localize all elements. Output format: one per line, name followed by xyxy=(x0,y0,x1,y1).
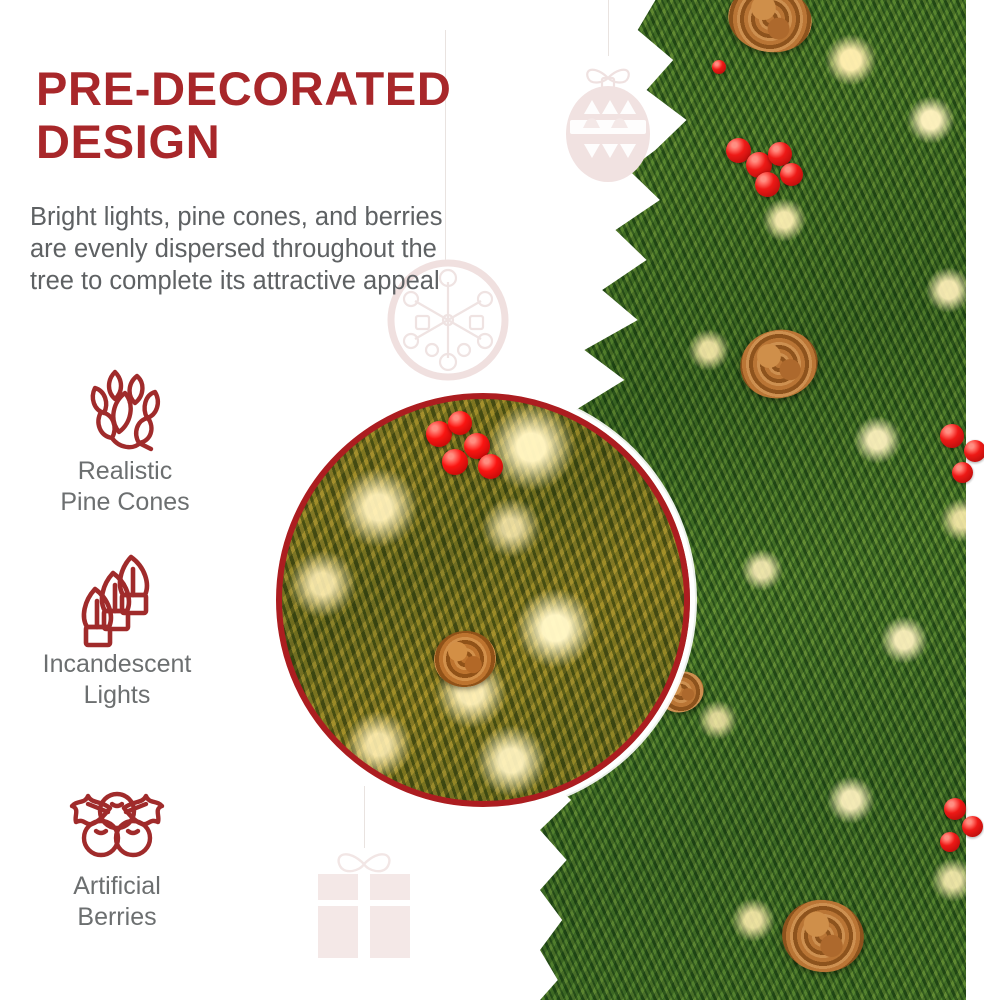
pine-cone xyxy=(733,322,825,407)
berry xyxy=(944,798,966,820)
description-line-1: Bright lights, pine cones, and berries xyxy=(30,201,586,233)
feature-label-line-1: Realistic xyxy=(0,456,250,487)
feature-label-line-2: Berries xyxy=(0,902,242,933)
berry xyxy=(952,462,973,483)
headline-line-2: DESIGN xyxy=(36,115,576,168)
holly-berries-icon xyxy=(0,775,242,871)
detail-magnifier-circle xyxy=(276,393,690,807)
feature-label-berries: Artificial Berries xyxy=(0,871,242,933)
description-line-2: are evenly dispersed throughout the xyxy=(30,233,586,265)
berry xyxy=(712,60,726,74)
pine-cone xyxy=(430,627,499,691)
feature-label-line-2: Lights xyxy=(0,680,242,711)
ornament-hanger-thread xyxy=(608,0,609,56)
right-white-margin xyxy=(966,0,984,1000)
feature-label-pine-cones: Realistic Pine Cones xyxy=(0,456,250,518)
pine-cone-icon xyxy=(0,360,250,456)
berry xyxy=(780,163,803,186)
description-text: Bright lights, pine cones, and berries a… xyxy=(30,201,586,297)
pine-cone xyxy=(723,0,817,59)
feature-item-berries: Artificial Berries xyxy=(0,775,242,933)
gift-hanger-thread xyxy=(364,786,365,848)
feature-item-pine-cones: Realistic Pine Cones xyxy=(0,360,250,518)
pine-cone xyxy=(777,895,868,978)
description-line-3: tree to complete its attractive appeal xyxy=(30,265,586,297)
berry xyxy=(448,411,472,435)
poster-canvas: PRE-DECORATED DESIGN Bright lights, pine… xyxy=(0,0,1000,1000)
headline-line-1: PRE-DECORATED xyxy=(36,62,576,115)
feature-label-line-2: Pine Cones xyxy=(0,487,250,518)
feature-label-line-1: Artificial xyxy=(0,871,242,902)
incandescent-bulbs-icon xyxy=(0,553,242,649)
berry xyxy=(940,832,960,852)
berry xyxy=(940,424,964,448)
feature-label-lights: Incandescent Lights xyxy=(0,649,242,711)
page-title: PRE-DECORATED DESIGN xyxy=(36,62,576,168)
berry xyxy=(755,172,780,197)
feature-label-line-1: Incandescent xyxy=(0,649,242,680)
berry xyxy=(962,816,983,837)
berry xyxy=(964,440,984,462)
berry xyxy=(442,449,468,475)
berry xyxy=(478,454,503,479)
feature-item-lights: Incandescent Lights xyxy=(0,553,242,711)
